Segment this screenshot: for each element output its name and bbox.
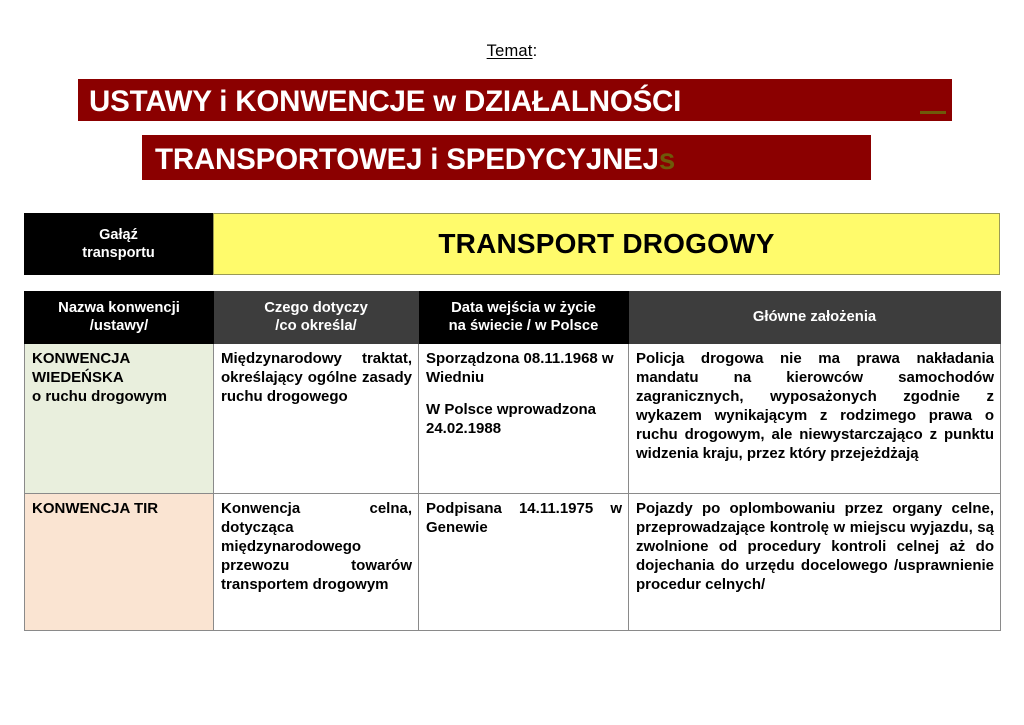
branch-label-line-1: Gałąź bbox=[99, 226, 138, 244]
column-header-assumptions-line-1: Główne założenia bbox=[633, 308, 996, 326]
branch-label-line-2: transportu bbox=[82, 244, 155, 262]
title-banner-line-1: USTAWY i KONWENCJE w DZIAŁALNOŚCI bbox=[78, 79, 952, 121]
column-header-date-line-2: na świecie / w Polsce bbox=[423, 317, 624, 335]
column-header-scope: Czego dotyczy /co określa/ bbox=[214, 292, 419, 344]
row-1-name-cell: KONWENCJA WIEDEŃSKA o ruchu drogowym bbox=[25, 344, 214, 494]
column-header-name: Nazwa konwencji /ustawy/ bbox=[25, 292, 214, 344]
branch-header-row: Gałąź transportu TRANSPORT DROGOWY bbox=[24, 213, 1000, 275]
table-row: KONWENCJA TIR Konwencja celna, dotycząca… bbox=[25, 494, 1001, 631]
row-1-date-world: Sporządzona 08.11.1968 w Wiedniu bbox=[426, 349, 622, 387]
conventions-table: Nazwa konwencji /ustawy/ Czego dotyczy /… bbox=[24, 291, 1001, 631]
row-1-scope-cell: Międzynarodowy traktat, określający ogól… bbox=[214, 344, 419, 494]
branch-label-cell: Gałąź transportu bbox=[24, 213, 213, 275]
column-header-name-line-1: Nazwa konwencji bbox=[29, 299, 209, 317]
branch-value-cell: TRANSPORT DROGOWY bbox=[213, 213, 1000, 275]
column-header-date: Data wejścia w życie na świecie / w Pols… bbox=[419, 292, 629, 344]
column-header-scope-line-2: /co określa/ bbox=[218, 317, 414, 335]
column-header-assumptions: Główne założenia bbox=[629, 292, 1001, 344]
column-header-name-line-2: /ustawy/ bbox=[29, 317, 209, 335]
column-header-scope-line-1: Czego dotyczy bbox=[218, 299, 414, 317]
row-1-name-line-3: o ruchu drogowym bbox=[32, 387, 207, 406]
row-2-date-cell: Podpisana 14.11.1975 w Genewie bbox=[419, 494, 629, 631]
row-1-name-line-1: KONWENCJA bbox=[32, 349, 207, 368]
branch-value-text: TRANSPORT DROGOWY bbox=[438, 228, 774, 260]
row-1-date-poland: W Polsce wprowadzona 24.02.1988 bbox=[426, 400, 622, 438]
subject-label-colon: : bbox=[533, 42, 538, 60]
row-1-name-line-2: WIEDEŃSKA bbox=[32, 368, 207, 387]
subject-label-underlined: Temat bbox=[487, 42, 533, 60]
subject-label: Temat: bbox=[0, 42, 1024, 61]
column-header-date-line-1: Data wejścia w życie bbox=[423, 299, 624, 317]
row-2-name-cell: KONWENCJA TIR bbox=[25, 494, 214, 631]
row-1-date-cell: Sporządzona 08.11.1968 w Wiedniu W Polsc… bbox=[419, 344, 629, 494]
title-line-1-text: USTAWY i KONWENCJE w DZIAŁALNOŚCI bbox=[89, 85, 681, 118]
title-line-2-text: TRANSPORTOWEJ i SPEDYCYJNEJ bbox=[155, 143, 659, 176]
title-banner-line-2: TRANSPORTOWEJ i SPEDYCYJNEJs bbox=[142, 135, 871, 180]
row-2-date-world: Podpisana 14.11.1975 w Genewie bbox=[426, 499, 622, 537]
table-header-row: Nazwa konwencji /ustawy/ Czego dotyczy /… bbox=[25, 292, 1001, 344]
row-2-assumptions-cell: Pojazdy po oplombowaniu przez organy cel… bbox=[629, 494, 1001, 631]
title-underscore-mark bbox=[920, 111, 946, 114]
row-1-assumptions-cell: Policja drogowa nie ma prawa nakładania … bbox=[629, 344, 1001, 494]
table-row: KONWENCJA WIEDEŃSKA o ruchu drogowym Mię… bbox=[25, 344, 1001, 494]
row-2-scope-cell: Konwencja celna, dotycząca międzynarodow… bbox=[214, 494, 419, 631]
row-2-name-line-1: KONWENCJA TIR bbox=[32, 499, 207, 518]
title-accent-char: s bbox=[659, 143, 675, 176]
